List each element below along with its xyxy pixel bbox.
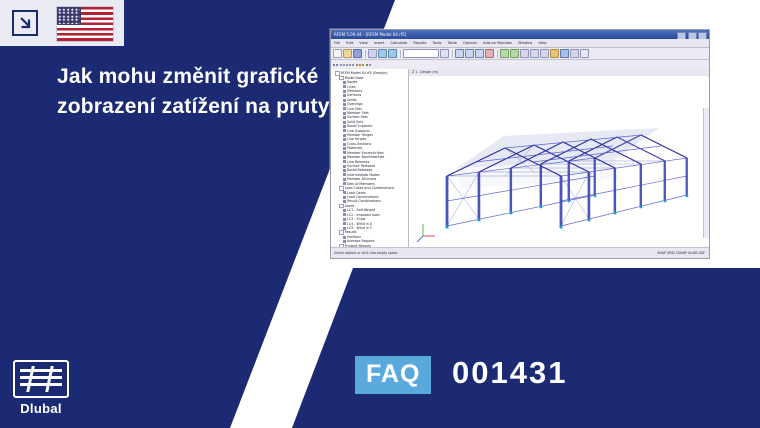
- menu-item-insert[interactable]: Insert: [374, 41, 384, 45]
- 3d-model-view[interactable]: [409, 76, 709, 248]
- toolbar-section-icon[interactable]: [570, 49, 579, 58]
- status-bar-modes: SNAP GRID OSNAP GLINE DXF: [657, 248, 709, 258]
- toolbar-undo-icon[interactable]: [378, 49, 387, 58]
- toolbar-help-icon[interactable]: [580, 49, 589, 58]
- menu-item-view[interactable]: View: [359, 41, 368, 45]
- toolbar-separator: [365, 50, 366, 58]
- window-titlebar: RFEM 5.09.44 - [RFEM Model 04.rf5]: [331, 30, 709, 39]
- status-bar-message: Select objects or click into empty space: [334, 248, 397, 258]
- page-title: Jak mohu změnit grafické zobrazení zatíž…: [57, 62, 357, 122]
- toolbar2-node-icon[interactable]: [340, 64, 342, 66]
- flag-stars: ★★★★★★ ★★★★★ ★★★★★★ ★★★★★ ★★★★★★ ★★★★★ ★…: [58, 8, 80, 24]
- toolbar-zoom-icon[interactable]: [455, 49, 464, 58]
- model-canvas[interactable]: Z 1 - Design (m): [409, 69, 709, 248]
- workspace: RFEM Model 04.rf5 (Sample) Model Data No…: [331, 69, 709, 248]
- toolbar2-surface-icon[interactable]: [349, 64, 351, 66]
- toolbar2-line-icon[interactable]: [343, 64, 345, 66]
- toolbar-rotate-icon[interactable]: [475, 49, 484, 58]
- menu-item-addon-modules[interactable]: Add-on Modules: [483, 41, 512, 45]
- menu-item-edit[interactable]: Edit: [346, 41, 353, 45]
- toolbar2-display-icon[interactable]: [333, 64, 335, 66]
- toolbar-open-icon[interactable]: [343, 49, 352, 58]
- toolbar2-color-icon[interactable]: [366, 64, 368, 66]
- toolbar-chevron-down-icon[interactable]: [440, 49, 449, 58]
- menu-item-options[interactable]: Options: [463, 41, 477, 45]
- toolbar2-settings-icon[interactable]: [369, 64, 371, 66]
- toolbar-save-icon[interactable]: [353, 49, 362, 58]
- toolbar-print-icon[interactable]: [368, 49, 377, 58]
- project-navigator-tree[interactable]: RFEM Model 04.rf5 (Sample) Model Data No…: [331, 69, 409, 248]
- menu-bar[interactable]: File Edit View Insert Calculate Results …: [331, 39, 709, 48]
- toolbar-redo-icon[interactable]: [388, 49, 397, 58]
- menu-item-help[interactable]: Help: [538, 41, 546, 45]
- toolbar-render-icon[interactable]: [485, 49, 494, 58]
- faq-number: 001431: [452, 355, 567, 391]
- menu-item-results[interactable]: Results: [413, 41, 426, 45]
- toolbar-loads-icon[interactable]: [550, 49, 559, 58]
- window-title: RFEM 5.09.44 - [RFEM Model 04.rf5]: [334, 32, 406, 37]
- toolbar-loadcase-select[interactable]: [403, 49, 439, 58]
- dlubal-wordmark: Dlubal: [8, 401, 74, 416]
- toolbar-separator: [497, 50, 498, 58]
- toolbar-grid-icon[interactable]: [520, 49, 529, 58]
- canvas-vertical-scrollbar[interactable]: [703, 108, 709, 238]
- toolbar-calculate-icon[interactable]: [500, 49, 509, 58]
- toolbar2-load-surface-icon[interactable]: [362, 64, 364, 66]
- toolbar2-load-member-icon[interactable]: [359, 64, 361, 66]
- status-bar: Select objects or click into empty space…: [331, 247, 709, 258]
- toolbar2-member-icon[interactable]: [346, 64, 348, 66]
- menu-item-calculate[interactable]: Calculate: [390, 41, 407, 45]
- toolbar-separator: [400, 50, 401, 58]
- main-toolbar[interactable]: [331, 48, 709, 60]
- toolbar-results-icon[interactable]: [510, 49, 519, 58]
- menu-item-file[interactable]: File: [334, 41, 340, 45]
- toolbar-pan-icon[interactable]: [465, 49, 474, 58]
- menu-item-window[interactable]: Window: [518, 41, 532, 45]
- toolbar-dimension-icon[interactable]: [540, 49, 549, 58]
- toolbar2-view-icon[interactable]: [336, 64, 338, 66]
- united-states-flag-icon: ★★★★★★ ★★★★★ ★★★★★★ ★★★★★ ★★★★★★ ★★★★★ ★…: [56, 6, 114, 42]
- toolbar-new-icon[interactable]: [333, 49, 342, 58]
- dlubal-mark-icon: [13, 360, 69, 398]
- dlubal-logo: Dlubal: [8, 360, 74, 416]
- faq-badge: FAQ: [355, 356, 431, 394]
- menu-item-tools[interactable]: Tools: [433, 41, 442, 45]
- menu-item-table[interactable]: Table: [448, 41, 457, 45]
- slide-canvas: ★★★★★★ ★★★★★ ★★★★★★ ★★★★★ ★★★★★★ ★★★★★ ★…: [0, 0, 760, 428]
- toolbar-separator: [452, 50, 453, 58]
- toolbar-supports-icon[interactable]: [560, 49, 569, 58]
- toolbar-snap-icon[interactable]: [530, 49, 539, 58]
- window-controls[interactable]: [677, 32, 707, 40]
- application-screenshot: RFEM 5.09.44 - [RFEM Model 04.rf5] File …: [330, 29, 710, 259]
- toolbar2-load-nodal-icon[interactable]: [356, 64, 358, 66]
- canvas-tab-label: Z 1 - Design (m): [412, 70, 438, 74]
- toolbar2-solid-icon[interactable]: [352, 64, 354, 66]
- download-arrow-icon: [0, 0, 50, 46]
